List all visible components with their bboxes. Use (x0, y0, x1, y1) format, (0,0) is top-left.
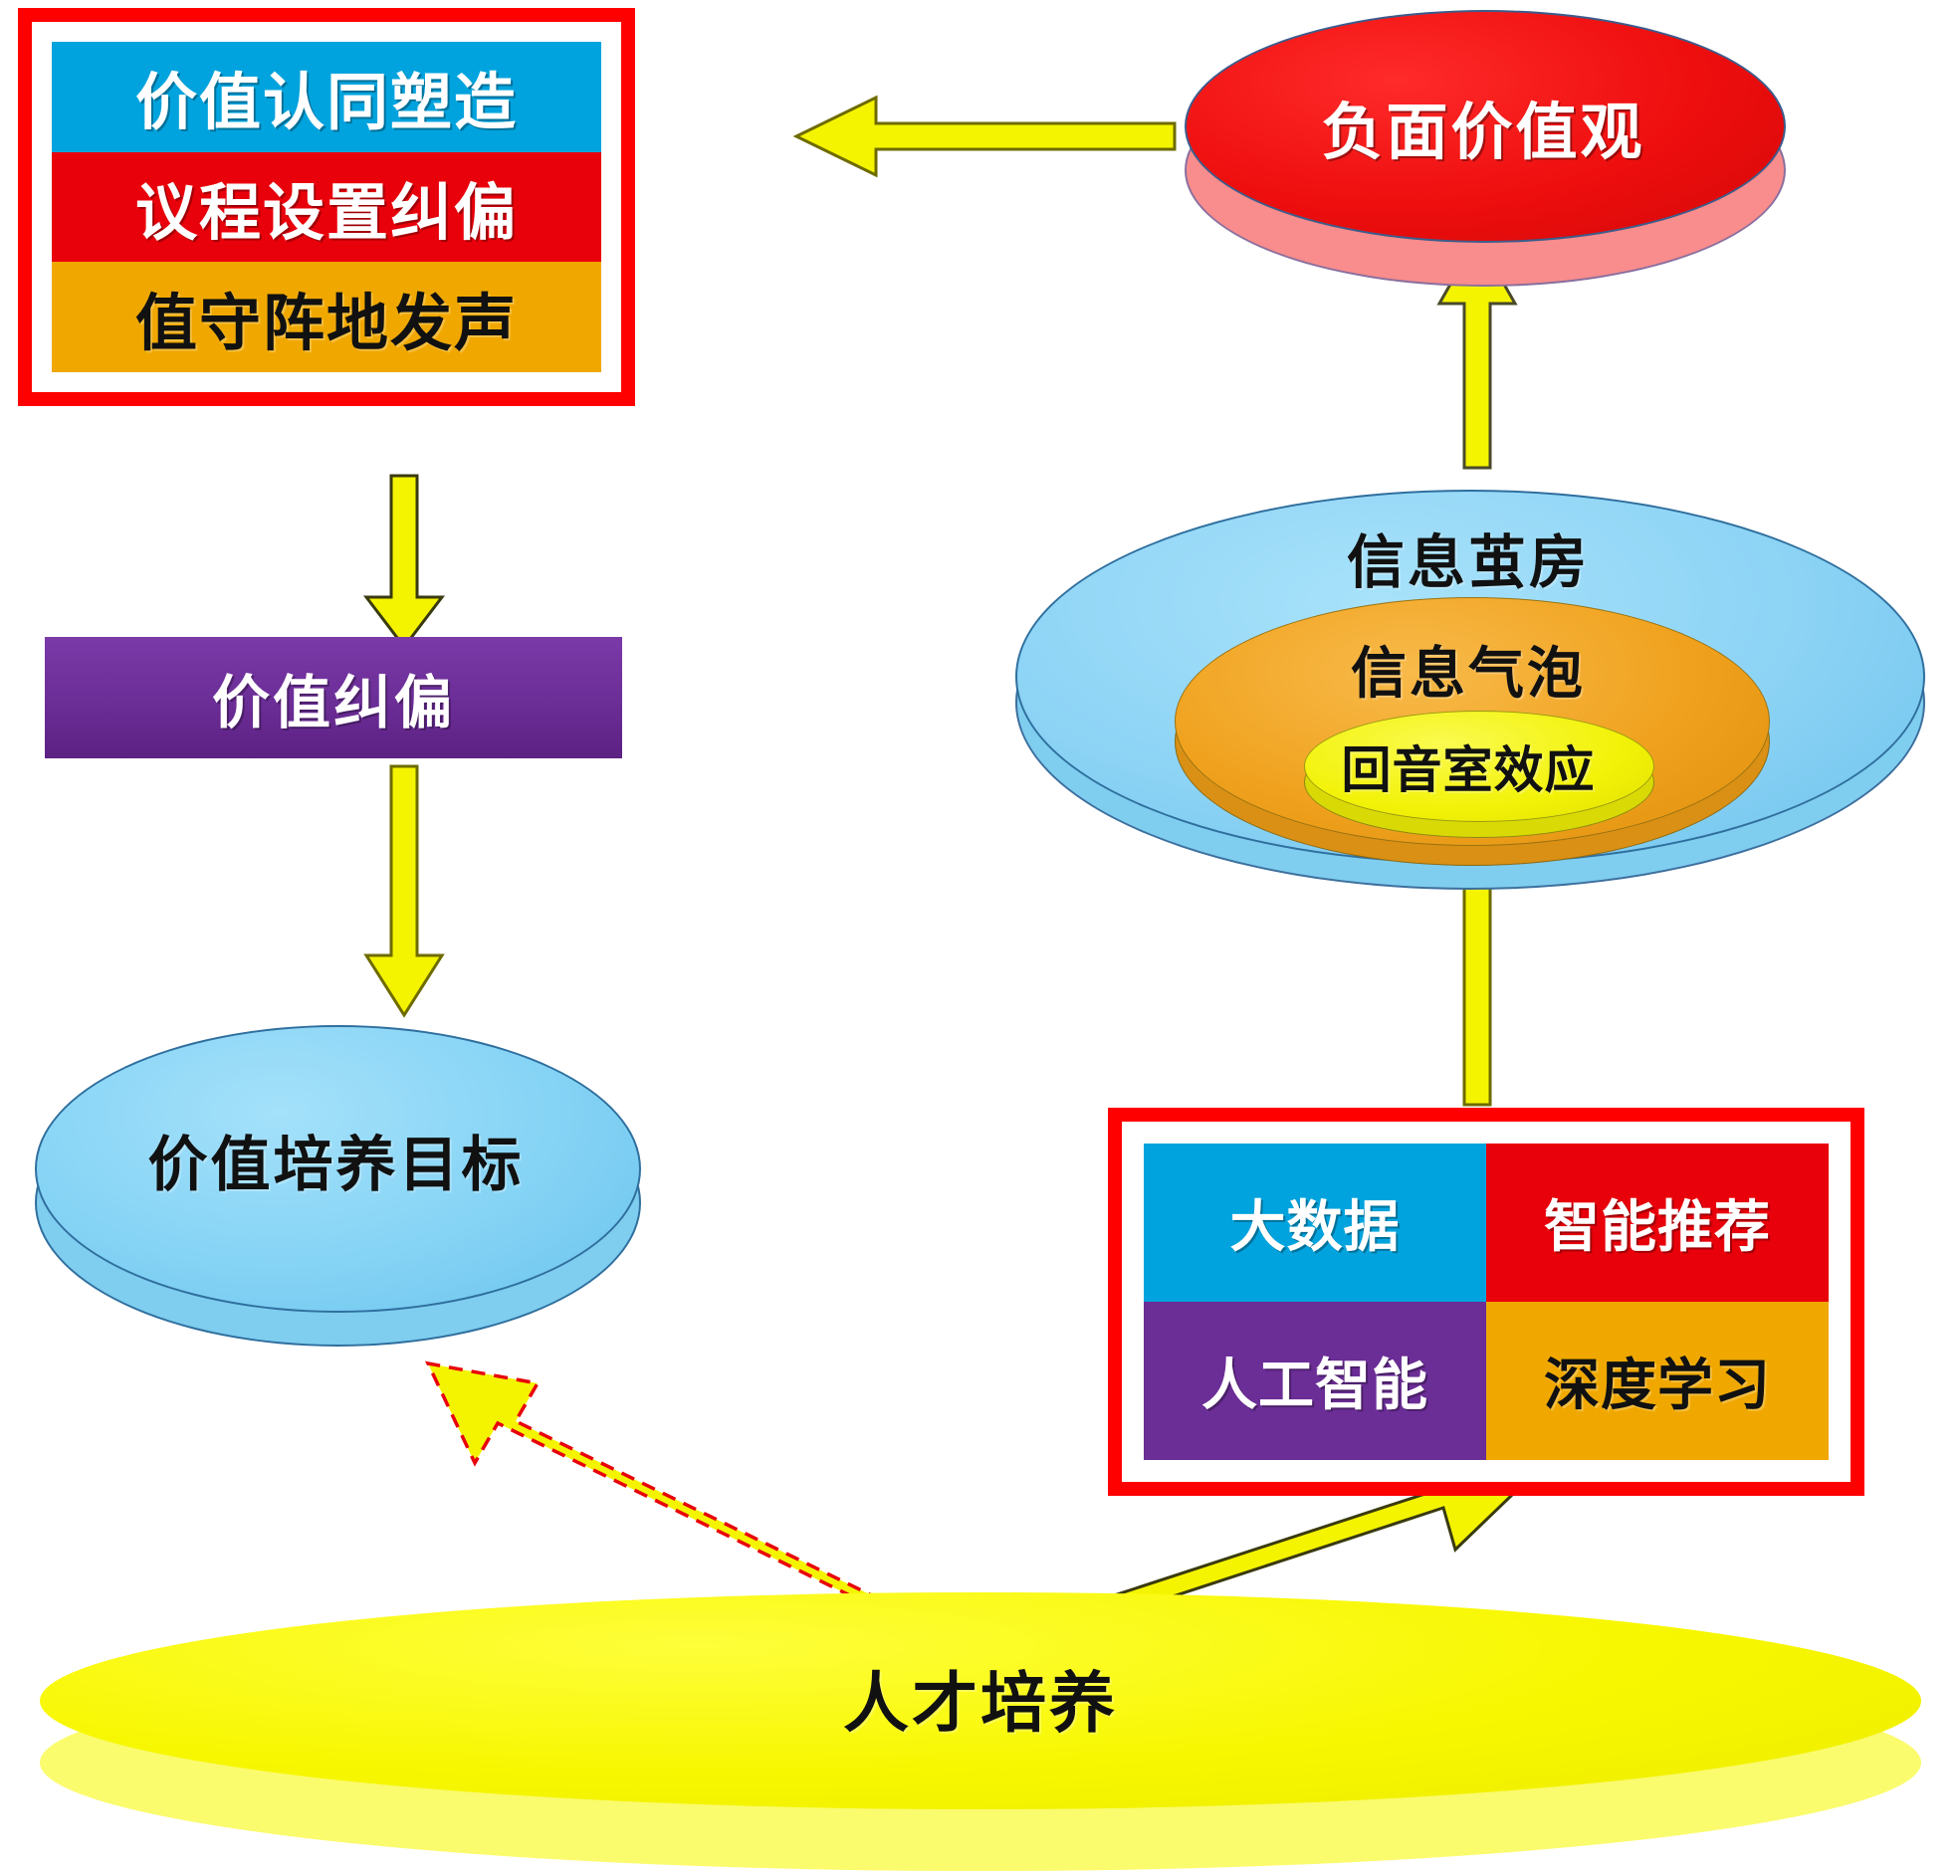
value-guidance-panel[interactable]: 价值认同塑造 议程设置纠偏 值守阵地发声 (18, 8, 635, 406)
value-goal-node[interactable]: 价值培养目标 (35, 1025, 637, 1373)
tech-cell-big-data[interactable]: 大数据 (1144, 1144, 1486, 1302)
guidance-band-2[interactable]: 值守阵地发声 (52, 262, 601, 372)
guidance-band-0-label: 价值认同塑造 (135, 52, 518, 141)
tech-cell-deep-learning[interactable]: 深度学习 (1486, 1302, 1829, 1460)
tech-cell-smart-recommend[interactable]: 智能推荐 (1486, 1144, 1829, 1302)
value-correction-bar[interactable]: 价值纠偏 (45, 637, 622, 758)
value-correction-bar-label: 价值纠偏 (212, 656, 455, 739)
cocoon-outer-label: 信息茧房 (1015, 516, 1921, 599)
arrow-panel-to-correction (366, 476, 442, 647)
talent-label: 人才培养 (40, 1650, 1921, 1746)
diagram-canvas: 价值认同塑造 议程设置纠偏 值守阵地发声 负面价值观 信息茧房 信息气泡 (0, 0, 1960, 1876)
technology-panel[interactable]: 大数据 智能推荐 人工智能 深度学习 (1108, 1108, 1864, 1496)
information-cocoon-node[interactable]: 信息茧房 信息气泡 回音室效应 (1015, 490, 1921, 918)
information-bubble-label: 信息气泡 (1015, 629, 1921, 710)
guidance-band-1[interactable]: 议程设置纠偏 (52, 152, 601, 263)
tech-cell-smart-recommend-label: 智能推荐 (1544, 1182, 1771, 1263)
tech-cell-ai[interactable]: 人工智能 (1144, 1302, 1486, 1460)
guidance-band-2-label: 值守阵地发声 (135, 273, 518, 362)
negative-values-node[interactable]: 负面价值观 (1185, 10, 1782, 289)
value-goal-label: 价值培养目标 (35, 1117, 637, 1203)
guidance-band-0[interactable]: 价值认同塑造 (52, 42, 601, 152)
tech-cell-deep-learning-label: 深度学习 (1544, 1341, 1771, 1421)
tech-cell-big-data-label: 大数据 (1230, 1182, 1401, 1263)
arrow-negative-to-panel (796, 98, 1175, 175)
guidance-band-1-label: 议程设置纠偏 (135, 162, 518, 252)
arrow-correction-to-goal (366, 766, 442, 1015)
talent-node[interactable]: 人才培养 (40, 1592, 1921, 1876)
negative-values-label: 负面价值观 (1185, 82, 1782, 171)
tech-cell-ai-label: 人工智能 (1201, 1341, 1428, 1421)
echo-chamber-label: 回音室效应 (1015, 730, 1921, 802)
